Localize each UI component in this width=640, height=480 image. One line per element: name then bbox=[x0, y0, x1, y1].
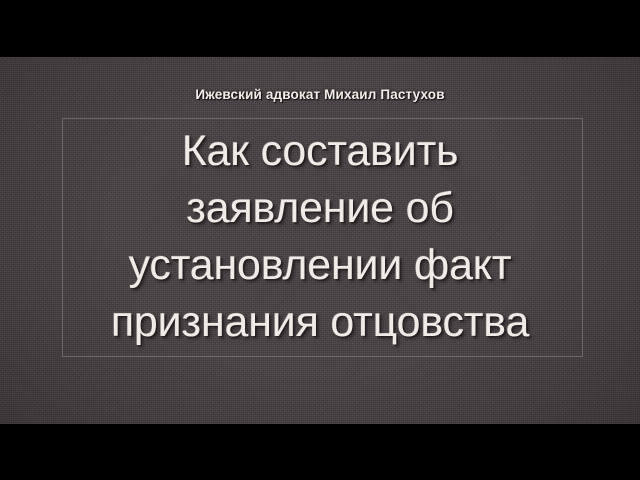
headline-line-3: установлении факт bbox=[40, 237, 600, 294]
video-thumbnail-screen: Ижевский адвокат Михаил Пастухов Как сос… bbox=[0, 0, 640, 480]
byline-attribution: Ижевский адвокат Михаил Пастухов bbox=[0, 87, 640, 102]
headline-line-2: заявление об bbox=[40, 180, 600, 237]
video-frame-content: Ижевский адвокат Михаил Пастухов Как сос… bbox=[0, 57, 640, 424]
letterbox-bar-top bbox=[0, 0, 640, 57]
headline-line-4: признания отцовства bbox=[40, 294, 600, 351]
headline-line-1: Как составить bbox=[40, 123, 600, 180]
headline-title-block: Как составить заявление об установлении … bbox=[40, 123, 600, 351]
letterbox-bar-bottom bbox=[0, 424, 640, 480]
